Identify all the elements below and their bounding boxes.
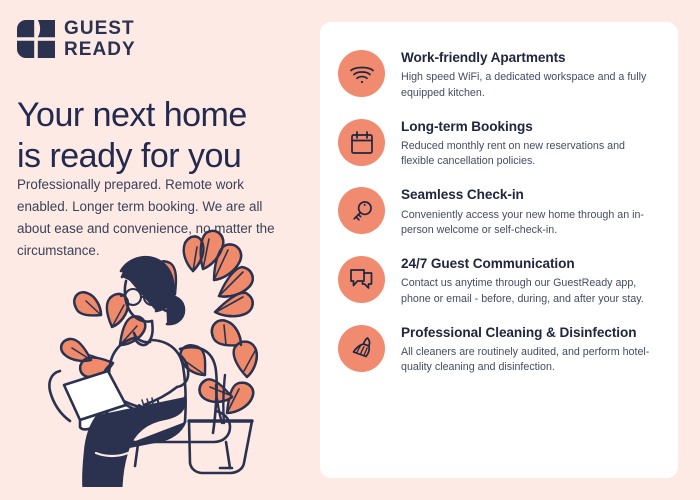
feature-description: Contact us anytime through our GuestRead… [401,276,660,306]
brand-wordmark: GUEST READY [64,19,136,59]
feature-item-seamless-check-in[interactable]: Seamless Check-in Conveniently access yo… [338,185,660,238]
feature-title: Long-term Bookings [401,119,660,135]
wordmark-line-ready: READY [64,40,136,59]
feature-item-guest-communication[interactable]: 24/7 Guest Communication Contact us anyt… [338,254,660,307]
feature-description: Conveniently access your new home throug… [401,208,660,238]
wordmark-line-guest: GUEST [64,19,136,38]
feature-title: 24/7 Guest Communication [401,256,660,272]
page-title: Your next home is ready for you [17,95,305,178]
feature-title: Seamless Check-in [401,187,660,203]
features-list: Work-friendly Apartments High speed WiFi… [338,48,660,375]
feature-text: Work-friendly Apartments High speed WiFi… [401,48,660,101]
headline-line-1: Your next home [17,95,305,136]
feature-description: All cleaners are routinely audited, and … [401,345,660,375]
key-icon [338,187,385,234]
feature-text: Long-term Bookings Reduced monthly rent … [401,117,660,170]
feature-text: 24/7 Guest Communication Contact us anyt… [401,254,660,307]
features-card: Work-friendly Apartments High speed WiFi… [320,22,678,478]
chat-bubbles-icon [338,256,385,303]
feature-text: Professional Cleaning & Disinfection All… [401,323,660,376]
promo-page: GUEST READY Your next home is ready for … [0,0,700,500]
headline-line-2: is ready for you [17,136,305,177]
wifi-icon [338,50,385,97]
feature-item-professional-cleaning[interactable]: Professional Cleaning & Disinfection All… [338,323,660,376]
hero-column: GUEST READY Your next home is ready for … [0,0,312,500]
plant-pot [189,421,252,473]
guestready-square-mark-icon [17,20,55,58]
person-figure [39,257,188,487]
plant-large-lower-leaves [180,320,256,423]
feature-description: Reduced monthly rent on new reservations… [401,139,660,169]
feature-item-long-term-bookings[interactable]: Long-term Bookings Reduced monthly rent … [338,117,660,170]
person-working-on-laptop-in-armchair-with-plants-illustration [30,225,302,487]
broom-icon [338,325,385,372]
brand-logo[interactable]: GUEST READY [17,19,136,59]
feature-title: Professional Cleaning & Disinfection [401,325,660,341]
calendar-icon [338,119,385,166]
feature-item-work-friendly-apartments[interactable]: Work-friendly Apartments High speed WiFi… [338,48,660,101]
feature-title: Work-friendly Apartments [401,50,660,66]
feature-text: Seamless Check-in Conveniently access yo… [401,185,660,238]
feature-description: High speed WiFi, a dedicated workspace a… [401,70,660,100]
